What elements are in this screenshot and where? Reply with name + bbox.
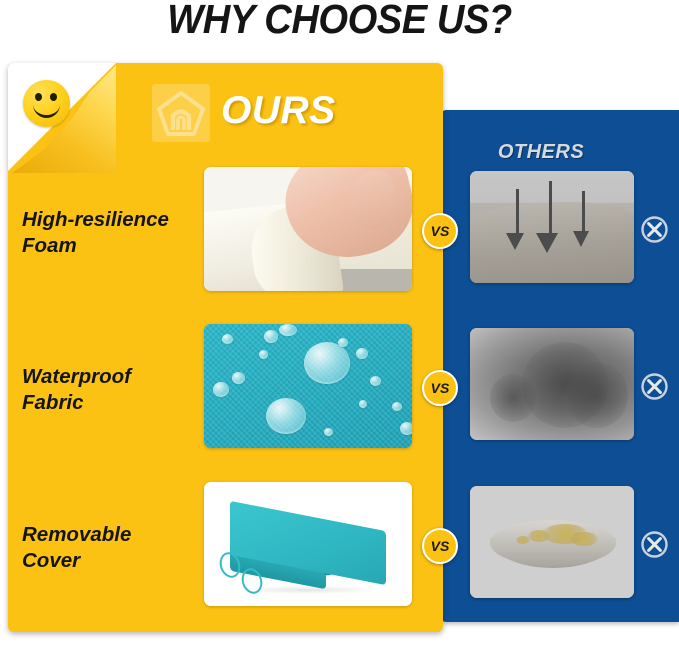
- vs-badge: VS: [422, 213, 458, 249]
- others-thumbnail-soaked-fabric: [470, 328, 634, 440]
- ours-thumbnail-foam: [204, 167, 412, 291]
- waterproof-fabric-droplets-illustration: [204, 324, 412, 448]
- x-circle-icon: [640, 215, 669, 244]
- soaked-gray-fabric-illustration: [470, 328, 634, 440]
- ours-thumbnail-waterproof-fabric: [204, 324, 412, 448]
- ours-panel-heading: OURS: [221, 89, 336, 133]
- stained-round-cushion-illustration: [470, 486, 634, 598]
- feature-label: High-resilience Foam: [22, 207, 202, 259]
- others-panel-heading: OTHERS: [441, 141, 641, 164]
- ours-thumbnail-removable-cover: [204, 482, 412, 606]
- smiley-face-icon: [23, 80, 70, 127]
- feature-label-line1: High-resilience: [22, 207, 202, 233]
- others-thumbnail-compressed-padding: [470, 171, 634, 283]
- house-pentagon-logo-icon: [152, 84, 210, 142]
- feature-label-line2: Fabric: [22, 390, 202, 416]
- x-circle-icon: [640, 530, 669, 559]
- smiley-mouth-icon: [33, 99, 60, 118]
- page-title: WHY CHOOSE US?: [24, 0, 655, 43]
- feature-label-line1: Removable: [22, 522, 202, 548]
- feature-label-line1: Waterproof: [22, 364, 202, 390]
- feature-label-line2: Foam: [22, 233, 202, 259]
- others-thumbnail-stained-cushion: [470, 486, 634, 598]
- x-circle-icon: [640, 372, 669, 401]
- teal-seat-cushion-illustration: [204, 482, 412, 606]
- feature-label-line2: Cover: [22, 548, 202, 574]
- vs-badge: VS: [422, 370, 458, 406]
- vs-badge: VS: [422, 528, 458, 564]
- feature-label: Removable Cover: [22, 522, 202, 574]
- compression-arrows-illustration: [470, 171, 634, 283]
- hand-pressing-foam-illustration: [204, 167, 412, 291]
- feature-label: Waterproof Fabric: [22, 364, 202, 416]
